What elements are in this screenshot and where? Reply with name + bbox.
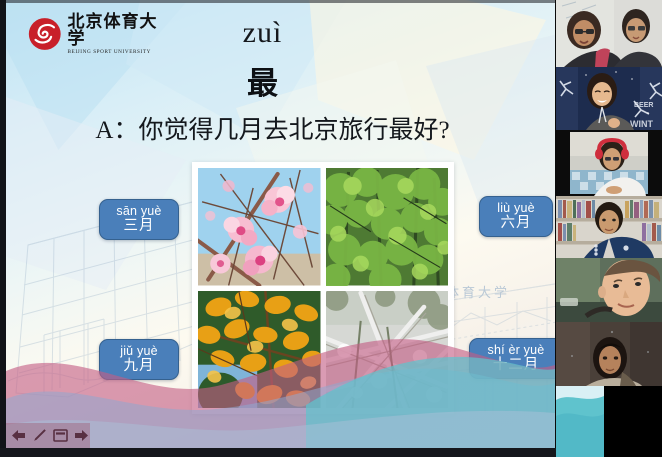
left-arrow-icon[interactable] bbox=[10, 427, 27, 444]
screen-frame-bottom bbox=[0, 448, 556, 457]
participant-video-rail: BEER WINT bbox=[556, 0, 662, 457]
month-chip-september[interactable]: jiǔ yuè 九月 bbox=[99, 339, 179, 380]
right-arrow-icon[interactable] bbox=[73, 427, 90, 444]
chip-pinyin: sān yuè bbox=[109, 204, 169, 218]
video-tile[interactable] bbox=[556, 0, 662, 67]
chip-pinyin: shí èr yuè bbox=[479, 343, 553, 357]
chip-hanzi: 十二月 bbox=[479, 357, 553, 373]
chip-pinyin: jiǔ yuè bbox=[109, 344, 169, 358]
photo-spring bbox=[198, 168, 321, 286]
month-chip-march[interactable]: sān yuè 三月 bbox=[99, 199, 179, 240]
svg-text:BEER: BEER bbox=[634, 102, 653, 109]
video-tile[interactable]: BEER WINT bbox=[556, 67, 662, 130]
page-title-hanzi: 最 bbox=[6, 58, 537, 103]
logo-name-english: BEIJING SPORT UNIVERSITY bbox=[68, 50, 169, 55]
screen-frame-top bbox=[6, 0, 555, 3]
shared-slide: 体育大学 北京体育大学 BEIJING SPORT UNIVERSITY zuì… bbox=[6, 0, 555, 448]
video-tile[interactable] bbox=[556, 196, 662, 258]
chip-hanzi: 三月 bbox=[109, 218, 169, 234]
chip-hanzi: 六月 bbox=[489, 215, 543, 231]
screen-share-meeting-view: 体育大学 北京体育大学 BEIJING SPORT UNIVERSITY zuì… bbox=[0, 0, 662, 457]
photo-summer bbox=[326, 168, 449, 286]
photo-winter bbox=[326, 291, 449, 409]
month-chip-june[interactable]: liù yuè 六月 bbox=[479, 196, 553, 237]
question-sentence: A：你觉得几月去北京旅行最好? bbox=[6, 110, 547, 146]
pen-icon[interactable] bbox=[31, 427, 48, 444]
slide-panel-icon[interactable] bbox=[52, 427, 69, 444]
screen-frame-left bbox=[0, 0, 6, 457]
video-tile[interactable] bbox=[556, 258, 662, 322]
video-tile[interactable] bbox=[556, 130, 662, 196]
seasons-photo-grid bbox=[192, 162, 454, 414]
slideshow-toolbar[interactable] bbox=[6, 423, 90, 448]
chip-pinyin: liù yuè bbox=[489, 201, 543, 215]
svg-text:WINT: WINT bbox=[630, 119, 653, 129]
chip-hanzi: 九月 bbox=[109, 358, 169, 374]
watermark-text: 体育大学 bbox=[446, 282, 510, 301]
video-tile[interactable] bbox=[556, 322, 662, 386]
photo-autumn bbox=[198, 291, 321, 409]
video-tile[interactable] bbox=[556, 386, 662, 457]
month-chip-december[interactable]: shí èr yuè 十二月 bbox=[469, 338, 555, 379]
page-title-pinyin: zuì bbox=[6, 16, 537, 50]
